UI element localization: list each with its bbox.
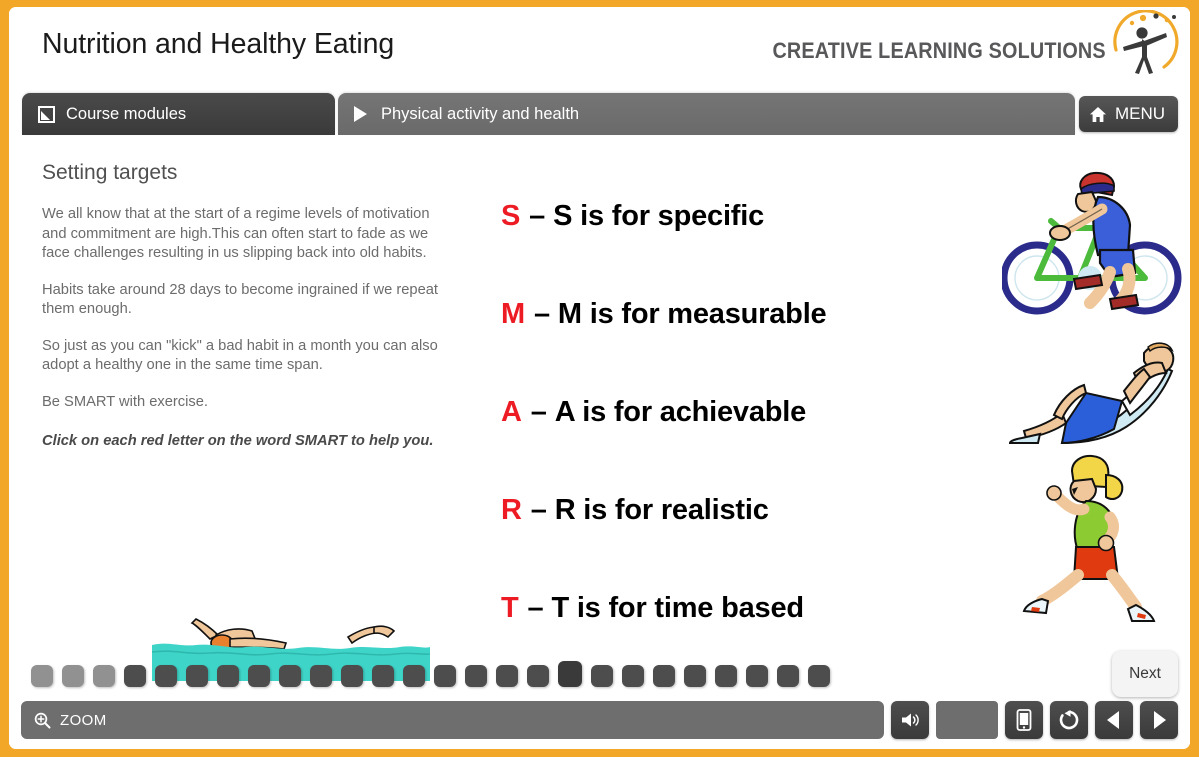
progress-dot[interactable] <box>341 665 363 687</box>
progress-dot[interactable] <box>62 665 84 687</box>
progress-dot[interactable] <box>217 665 239 687</box>
smart-letter-a[interactable]: A <box>501 396 522 429</box>
zoom-button-label: ZOOM <box>60 712 107 729</box>
smart-text-r: R is for realistic <box>555 494 769 527</box>
next-slide-button-label: Next <box>1129 665 1161 683</box>
situp-illustration <box>1004 339 1184 449</box>
smart-item-a[interactable]: A – A is for achievable <box>501 363 971 461</box>
slide-content: Setting targets We all know that at the … <box>9 139 1190 749</box>
smart-letter-s[interactable]: S <box>501 200 520 233</box>
progress-dots <box>31 661 1180 691</box>
text-column: Setting targets We all know that at the … <box>42 161 447 452</box>
paragraph-1: We all know that at the start of a regim… <box>42 205 447 264</box>
smart-dash-a: – <box>531 396 547 429</box>
progress-dot[interactable] <box>715 665 737 687</box>
progress-dot[interactable] <box>372 665 394 687</box>
page-header: Nutrition and Healthy Eating CREATIVE LE… <box>9 7 1190 93</box>
progress-dot[interactable] <box>279 665 301 687</box>
progress-dot[interactable] <box>746 665 768 687</box>
tab-physical-activity-label: Physical activity and health <box>381 105 579 124</box>
progress-dot[interactable] <box>310 665 332 687</box>
smart-text-a: A is for achievable <box>555 396 806 429</box>
zoom-button[interactable]: ZOOM <box>21 701 884 739</box>
seek-bar[interactable] <box>936 701 998 739</box>
collapse-panel-icon <box>38 106 55 123</box>
menu-button[interactable]: MENU <box>1079 96 1178 132</box>
progress-dot[interactable] <box>124 665 146 687</box>
menu-button-label: MENU <box>1115 104 1165 124</box>
paragraph-4: Be SMART with exercise. <box>42 393 447 413</box>
progress-dot[interactable] <box>465 665 487 687</box>
previous-button[interactable] <box>1095 701 1133 739</box>
mobile-view-button[interactable] <box>1005 701 1043 739</box>
tab-bar: Course modules Physical activity and hea… <box>9 93 1190 139</box>
progress-dot[interactable] <box>248 665 270 687</box>
runner-illustration <box>1018 451 1178 626</box>
magnifier-plus-icon <box>34 712 51 729</box>
smart-dash-r: – <box>531 494 547 527</box>
player-toolbar: ZOOM <box>9 699 1190 741</box>
cyclist-illustration <box>1002 145 1182 330</box>
smart-dash-m: – <box>534 298 550 331</box>
mobile-device-icon <box>1016 709 1032 731</box>
smart-item-m[interactable]: M – M is for measurable <box>501 265 971 363</box>
smart-dash-t: – <box>528 592 544 625</box>
tab-physical-activity-and-health[interactable]: Physical activity and health <box>338 93 1075 135</box>
smart-item-s[interactable]: S – S is for specific <box>501 167 971 265</box>
progress-dot-current[interactable] <box>558 661 582 687</box>
smart-item-t[interactable]: T – T is for time based <box>501 559 971 657</box>
application-card: Nutrition and Healthy Eating CREATIVE LE… <box>9 7 1190 749</box>
tab-course-modules[interactable]: Course modules <box>22 93 335 135</box>
smart-text-t: T is for time based <box>551 592 803 625</box>
paragraph-2: Habits take around 28 days to become ing… <box>42 281 447 320</box>
progress-dot[interactable] <box>777 665 799 687</box>
progress-dot[interactable] <box>527 665 549 687</box>
home-icon <box>1089 106 1107 123</box>
paragraph-3: So just as you can "kick" a bad habit in… <box>42 337 447 376</box>
triangle-right-icon <box>1150 710 1168 730</box>
volume-button[interactable] <box>891 701 929 739</box>
progress-dot[interactable] <box>93 665 115 687</box>
smart-dash-s: – <box>529 200 545 233</box>
smart-letter-m[interactable]: M <box>501 298 525 331</box>
triangle-left-icon <box>1105 710 1123 730</box>
smart-letter-r[interactable]: R <box>501 494 522 527</box>
section-title: Setting targets <box>42 161 447 185</box>
replay-button[interactable] <box>1050 701 1088 739</box>
progress-dot[interactable] <box>434 665 456 687</box>
smart-letter-t[interactable]: T <box>501 592 519 625</box>
smart-item-r[interactable]: R – R is for realistic <box>501 461 971 559</box>
page-title: Nutrition and Healthy Eating <box>42 28 394 61</box>
smart-acronym-list: S – S is for specific M – M is for measu… <box>501 167 971 657</box>
person-star-burst-logo-icon <box>1106 10 1180 78</box>
progress-dot[interactable] <box>653 665 675 687</box>
progress-dot[interactable] <box>591 665 613 687</box>
play-triangle-icon <box>354 106 367 122</box>
speaker-icon <box>900 711 920 729</box>
progress-dot[interactable] <box>31 665 53 687</box>
progress-dot[interactable] <box>622 665 644 687</box>
instruction-text: Click on each red letter on the word SMA… <box>42 432 447 452</box>
next-slide-button[interactable]: Next <box>1112 651 1178 697</box>
progress-dot[interactable] <box>403 665 425 687</box>
progress-dot[interactable] <box>155 665 177 687</box>
smart-text-s: S is for specific <box>553 200 764 233</box>
tab-course-modules-label: Course modules <box>66 105 186 124</box>
progress-dot[interactable] <box>808 665 830 687</box>
brand-name: CREATIVE LEARNING SOLUTIONS <box>773 38 1106 64</box>
progress-dot[interactable] <box>186 665 208 687</box>
next-button[interactable] <box>1140 701 1178 739</box>
application-frame: Nutrition and Healthy Eating CREATIVE LE… <box>0 0 1199 757</box>
progress-dot[interactable] <box>496 665 518 687</box>
replay-circular-arrow-icon <box>1058 709 1080 731</box>
progress-dot[interactable] <box>684 665 706 687</box>
smart-text-m: M is for measurable <box>558 298 827 331</box>
